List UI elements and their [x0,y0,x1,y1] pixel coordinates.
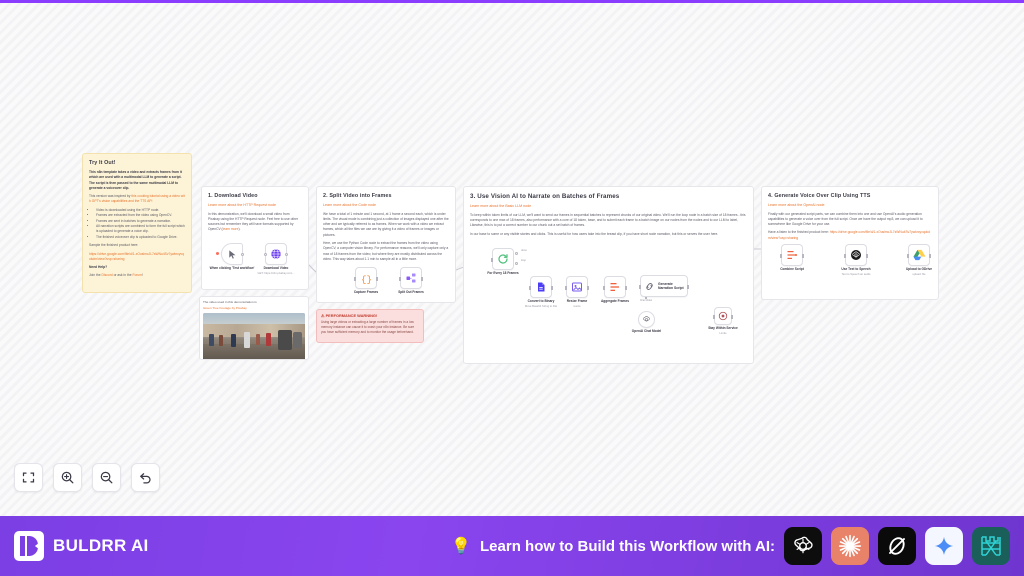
warning-body: Using large videos or extracting a large… [321,320,419,335]
buldrr-logo-icon [14,531,44,561]
intro-help-prefix: Join the [89,273,101,277]
svg-text:{}: {} [360,273,371,284]
grok-icon [885,534,909,558]
zoom-out-icon [99,470,114,485]
intro-step: All narration scripts are combined to fo… [96,224,185,235]
zoom-in-icon [60,470,75,485]
section-1-body-link[interactable]: learn more [223,227,239,231]
section-4-body-2-prefix: Have a listen to the finished product he… [768,230,830,234]
input-port[interactable] [603,286,605,290]
split-out-icon [405,272,417,284]
output-port[interactable] [241,253,244,256]
section-1-body-end: ). [238,227,240,231]
brand-block[interactable]: BULDRR AI [14,531,149,561]
output-port[interactable] [625,286,627,290]
node-generate-narration-script[interactable]: Generate Narration Script [640,275,688,297]
mistral-link-button[interactable] [972,527,1010,565]
wait-clock-icon [718,311,728,321]
section-1-body: In this demonstration, we'll download a … [208,212,302,233]
intro-body: This n8n template takes a video and extr… [89,170,185,191]
section-3-subtitle[interactable]: Learn more about the Basic LLM node [470,204,747,210]
zoom-in-button[interactable] [53,463,82,492]
intro-steps: Video is downloaded using the HTTP node.… [89,208,185,241]
google-drive-icon [913,249,926,261]
globe-icon [270,248,282,260]
node-split-out-frames[interactable]: Split Out Frames [400,267,422,289]
lightbulb-icon: 💡 [451,536,471,556]
fit-screen-icon [21,470,36,485]
node-openai-chat-model[interactable]: OpenAI Chat Model [638,311,655,328]
node-label: Combine Script [765,267,819,271]
input-port[interactable] [713,315,715,319]
sticky-note-performance-warning[interactable]: ⚠ PERFORMANCE WARNING! Using large video… [316,309,424,343]
openai-icon [791,534,815,558]
node-sublabel: upload: file [890,273,948,277]
intro-help-title: Need Help? [89,265,185,270]
output-port[interactable] [587,286,589,290]
node-download-video[interactable]: Download Video GET: https://cdn.pixabay.… [265,243,287,265]
video-credit-line1: The video used in this demonstration is [203,300,305,305]
section-1-subtitle[interactable]: Learn more about the HTTP Request node [208,203,302,209]
node-aggregate-frames[interactable]: Aggregate Frames [604,276,626,298]
cta-text: Learn how to Build this Workflow with AI… [480,538,775,555]
node-capture-frames[interactable]: {} Capture Frames [355,267,377,289]
output-port[interactable] [421,277,423,281]
input-port[interactable] [491,258,493,262]
intro-title: Try It Out! [89,159,185,167]
output-port[interactable] [687,285,689,289]
sticky-note-intro[interactable]: Try It Out! This n8n template takes a vi… [82,153,192,293]
intro-help-suffix: ! [142,273,143,277]
claude-link-button[interactable] [831,527,869,565]
output-port[interactable] [376,277,378,281]
input-port[interactable] [264,253,267,256]
input-port[interactable] [844,254,846,258]
openai-link-button[interactable] [784,527,822,565]
footer-cta: 💡 Learn how to Build this Workflow with … [451,527,1010,565]
node-trigger-test-workflow[interactable]: When clicking 'Test workflow' [221,243,243,265]
section-3-body-1: To keep within token limits of our LLM, … [470,213,747,229]
output-port[interactable] [929,254,931,258]
intro-credit-prefix: This version was inspired by [89,194,131,198]
zoom-out-button[interactable] [92,463,121,492]
intro-credit: This version was inspired by this cookin… [89,194,185,205]
node-inline-label: Generate Narration Script [658,282,687,291]
workflow-canvas[interactable]: Try It Out! This n8n template takes a vi… [0,3,1024,516]
loop-output-done-port[interactable] [515,252,518,255]
openai-icon [850,249,862,261]
section-4-body-1: Finally with our generated script parts,… [768,212,932,228]
loop-output-done-label: done [521,249,527,252]
fit-to-view-button[interactable] [14,463,43,492]
output-port[interactable] [551,286,553,290]
section-2-body-1: We have a total of 1 minute and 1 second… [323,212,449,238]
node-loop-over-items[interactable]: For Every 18 Frames [492,248,514,270]
node-sublabel: Limits [694,332,752,336]
intro-sample-label: Sample the finished product here: [89,243,185,248]
node-upload-to-gdrive[interactable]: Upload to GDrive upload: file [908,244,930,266]
section-2-container[interactable]: 2. Split Video into Frames Learn more ab… [316,186,456,303]
node-sublabel: GET: https://cdn.pixabay.com... [247,272,305,276]
node-stay-within-service-limits[interactable]: Stay Within Service Limits [714,307,732,325]
file-convert-icon [535,281,547,293]
output-port[interactable] [866,254,868,258]
node-label: For Every 18 Frames [476,271,530,275]
input-port[interactable] [399,277,401,281]
input-port[interactable] [780,254,782,258]
warning-title: ⚠ PERFORMANCE WARNING! [321,313,419,318]
section-3-title: 3. Use Vision AI to Narrate on Batches o… [470,192,747,201]
aggregate-icon [609,281,621,293]
node-label: Split Out Frames [384,290,438,294]
cursor-icon [227,249,238,260]
node-sublabel: Text to Speech an audio [827,273,885,277]
grok-link-button[interactable] [878,527,916,565]
section-1-title: 1. Download Video [208,192,302,200]
reset-view-button[interactable] [131,463,160,492]
node-resize-frame[interactable]: Resize Frame resize [566,276,588,298]
sticky-note-video-credit[interactable]: The video used in this demonstration is … [199,296,309,360]
input-port[interactable] [565,286,567,290]
loop-output-loop-port[interactable] [515,262,518,265]
output-port[interactable] [285,253,288,256]
loop-refresh-icon [497,253,509,265]
section-4-container[interactable]: 4. Generate Voice Over Clip Using TTS Le… [761,186,939,300]
section-4-subtitle[interactable]: Learn more about the OpenAI node [768,203,932,209]
chat-model-port-label: Chat Model [634,299,658,302]
brand-name: BULDRR AI [53,536,149,556]
mistral-icon [979,534,1003,558]
section-3-body-2: In our base to some or any visible stori… [470,232,747,237]
section-2-subtitle[interactable]: Learn more about the Code node [323,203,449,209]
gemini-sparkle-icon [933,535,955,557]
chain-link-icon [644,281,655,292]
trigger-dot-icon [216,252,219,255]
node-sublabel: resize [548,305,606,309]
section-2-body-2: Here, we use the Python Code node to ext… [323,241,449,262]
code-braces-icon: {} [360,272,373,285]
intro-step: The finished voiceover clip is uploaded … [96,235,185,240]
node-label: OpenAI Chat Model [620,329,674,333]
loop-output-loop-label: loop [521,259,526,262]
canvas-toolbar[interactable] [14,463,160,492]
node-use-text-to-speech[interactable]: Use Text to Speech Text to Speech an aud… [845,244,867,266]
intro-step: Frames are extracted from the video usin… [96,213,185,218]
node-convert-to-binary[interactable]: Convert to Binary Move Base64 String to … [530,276,552,298]
claude-icon [837,533,863,559]
node-label: Use Text to Speech [829,267,883,271]
section-4-title: 4. Generate Voice Over Clip Using TTS [768,192,932,200]
output-port[interactable] [731,315,733,319]
input-port[interactable] [907,254,909,258]
intro-help-link-forum[interactable]: Forum [132,273,142,277]
output-port[interactable] [802,254,804,258]
image-resize-icon [571,281,583,293]
intro-sample-link[interactable]: https://drive.google.com/file/d/1-xOuslm… [89,252,185,263]
node-label: Upload to GDrive [892,267,946,271]
intro-help-link-discord[interactable]: Discord [101,273,112,277]
section-1-body-text: In this demonstration, we'll download a … [208,212,298,232]
intro-help-mid: or ask in the [113,273,133,277]
gemini-link-button[interactable] [925,527,963,565]
intro-help-line: Join the Discord or ask in the Forum! [89,273,185,278]
demo-video-thumbnail [203,313,305,360]
merge-combine-icon [786,249,798,261]
input-port[interactable] [639,285,641,289]
input-port[interactable] [354,277,356,281]
node-combine-script[interactable]: Combine Script [781,244,803,266]
section-4-body-2: Have a listen to the finished product he… [768,230,932,241]
openai-icon [642,315,651,324]
undo-arrow-icon [138,470,153,485]
node-label: Download Video [249,266,303,270]
app-root: Try It Out! This n8n template takes a vi… [0,0,1024,576]
node-label: Stay Within Service [696,326,750,330]
input-port[interactable] [529,286,531,290]
video-credit-link[interactable]: Green Tree Footage by Pixabay [203,306,305,311]
section-2-title: 2. Split Video into Frames [323,192,449,200]
footer-bar: BULDRR AI 💡 Learn how to Build this Work… [0,516,1024,576]
